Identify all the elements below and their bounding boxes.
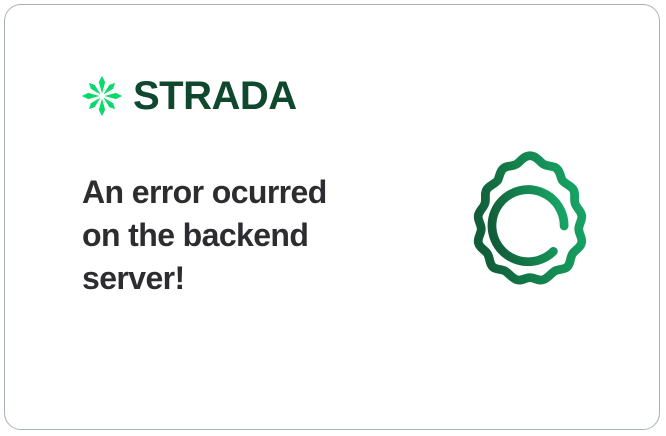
brand-lockup: STRADA xyxy=(81,75,297,117)
brand-wordmark: STRADA xyxy=(133,76,297,116)
strada-asterisk-icon xyxy=(81,75,123,117)
error-message: An error ocurred on the backend server! xyxy=(82,171,382,300)
gear-icon xyxy=(452,147,608,303)
error-card: STRADA An error ocurred on the backend s… xyxy=(4,4,660,430)
